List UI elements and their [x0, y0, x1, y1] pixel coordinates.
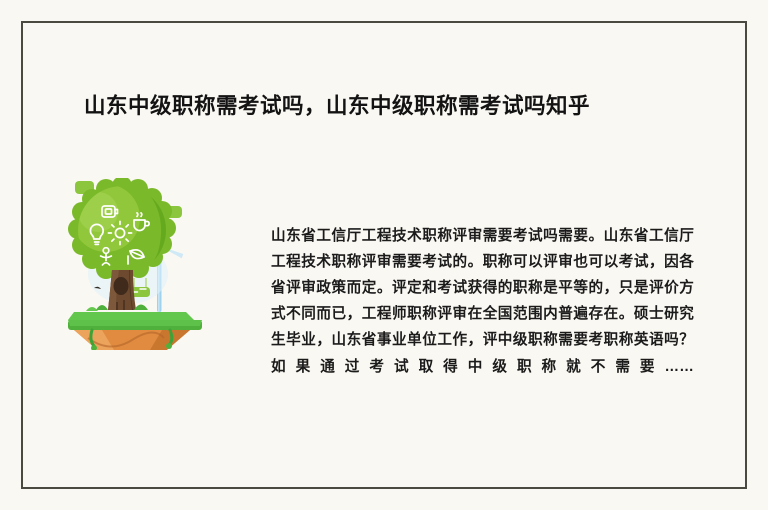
- tree-trunk: [108, 270, 136, 310]
- page-root: 山东中级职称需考试吗，山东中级职称需考试吗知乎: [0, 0, 768, 510]
- article-body: 山东省工信厅工程技术职称评审需要考试吗需要。山东省工信厅工程技术职称评审需要考试…: [271, 223, 694, 406]
- floating-island: [68, 312, 202, 350]
- page-title: 山东中级职称需考试吗，山东中级职称需考试吗知乎: [84, 93, 684, 121]
- eco-tree-illustration: [62, 178, 210, 350]
